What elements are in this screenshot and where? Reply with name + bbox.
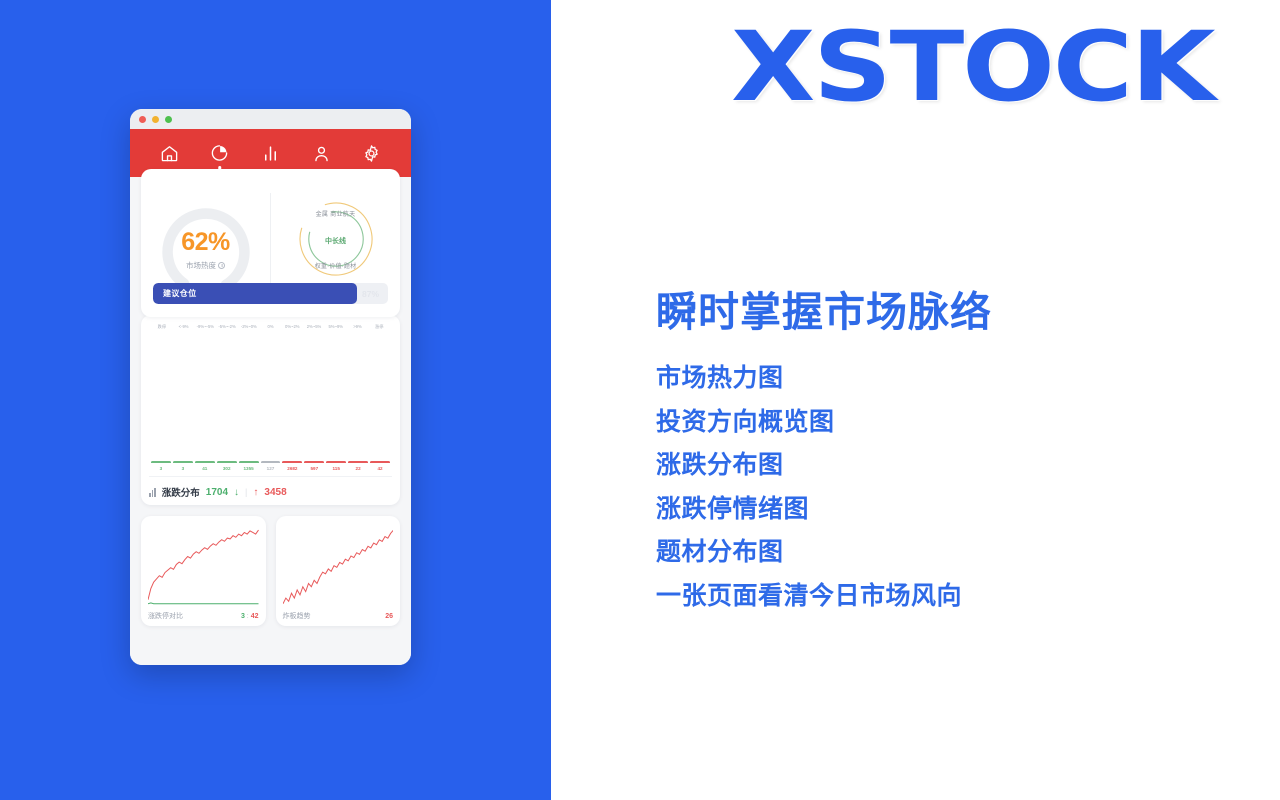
bar-column-8[interactable]: 115 (326, 461, 346, 471)
feature-item-2: 涨跌分布图 (656, 447, 962, 485)
market-heat-label-text: 市场热度 (186, 260, 216, 271)
up-arrow-icon: ↑ (253, 487, 258, 498)
bar-1 (173, 461, 193, 463)
bar-column-10[interactable]: 42 (370, 461, 390, 471)
bar-value-10: 42 (377, 466, 382, 471)
gauge-ring: 62% 市场热度 (158, 204, 254, 292)
limit-compare-name: 涨跌停对比 (148, 611, 183, 621)
bar-value-1: 3 (182, 466, 185, 471)
bar-value-7: 597 (310, 466, 318, 471)
bar-value-8: 115 (332, 466, 339, 471)
distribution-footer: 涨跌分布 1704 ↓ | ↑ 3458 (149, 476, 392, 499)
suggested-position-label: 建议仓位 (153, 288, 197, 299)
bar-chart-icon[interactable] (261, 144, 280, 163)
distribution-down-count: 1704 (206, 487, 228, 498)
window-maximize-dot[interactable] (165, 116, 172, 123)
broken-board-footer: 炸板趋势 26 (283, 608, 394, 621)
down-arrow-icon: ↓ (234, 487, 239, 498)
app-window-mockup: 62% 市场热度 (130, 109, 411, 665)
bar-column-0[interactable]: 3 (151, 461, 171, 471)
bar-column-4[interactable]: 1355 (239, 461, 259, 471)
bar-7 (304, 461, 324, 463)
suggested-position-bar[interactable]: 建议仓位 87% (153, 283, 388, 304)
bar-column-9[interactable]: 22 (348, 461, 368, 471)
distribution-up-count: 3458 (264, 487, 286, 498)
limit-compare-value: 3 : 42 (241, 613, 259, 620)
bar-5 (261, 461, 281, 463)
direction-top-text: 金属 商业航天 (296, 209, 376, 218)
bar-value-6: 2682 (287, 466, 297, 471)
app-body: 62% 市场热度 (130, 129, 411, 665)
feature-item-5: 一张页面看清今日市场风向 (656, 578, 962, 616)
feature-item-0: 市场热力图 (656, 360, 962, 398)
direction-ring-chart: 金属 商业航天 中长线 权重·价值·题材 (296, 199, 376, 279)
updown-distribution-card: 跌停<-9%-9%~-5%-5%~-2%-2%~0%0%0%~2%2%~5%5%… (141, 315, 400, 505)
bar-value-4: 1355 (243, 466, 253, 471)
bar-column-5[interactable]: 127 (261, 461, 281, 471)
brand-logo: XSTOCK (731, 12, 1213, 122)
bar-4 (239, 461, 259, 463)
distribution-title: 涨跌分布 (162, 485, 200, 499)
sparkline-series-1 (148, 603, 259, 604)
broken-board-value: 26 (385, 613, 393, 620)
mini-cards-row: 涨跌停对比 3 : 42 炸板趋势 26 (141, 516, 400, 626)
bar-value-3: 302 (223, 466, 231, 471)
limit-compare-sparkline (148, 523, 259, 608)
bar-chart-icon (149, 488, 156, 497)
right-marketing-panel: XSTOCK 瞬时掌握市场脉络 市场热力图投资方向概览图涨跌分布图涨跌停情绪图题… (551, 0, 1280, 800)
distribution-separator: | (245, 487, 247, 497)
distribution-bars: 3341302135512726825971152242 (149, 330, 392, 471)
bar-10 (370, 461, 390, 463)
feature-item-3: 涨跌停情绪图 (656, 491, 962, 529)
bar-column-1[interactable]: 3 (173, 461, 193, 471)
bar-2 (195, 461, 215, 463)
window-titlebar (130, 109, 411, 129)
limit-compare-footer: 涨跌停对比 3 : 42 (148, 608, 259, 621)
bar-column-7[interactable]: 597 (304, 461, 324, 471)
bar-6 (282, 461, 302, 463)
feature-list: 市场热力图投资方向概览图涨跌分布图涨跌停情绪图题材分布图一张页面看清今日市场风向 (656, 360, 962, 615)
market-heat-value: 62% (181, 230, 230, 255)
bar-column-2[interactable]: 41 (195, 461, 215, 471)
bar-column-6[interactable]: 2682 (282, 461, 302, 471)
home-icon[interactable] (160, 144, 179, 163)
info-icon[interactable] (218, 262, 225, 269)
broken-board-card[interactable]: 炸板趋势 26 (276, 516, 401, 626)
bar-8 (326, 461, 346, 463)
market-heat-label: 市场热度 (186, 260, 225, 271)
sparkline-series-0 (148, 530, 259, 600)
direction-bottom-text: 权重·价值·题材 (296, 261, 376, 270)
broken-board-name: 炸板趋势 (283, 611, 311, 621)
window-minimize-dot[interactable] (152, 116, 159, 123)
limit-down-count: 42 (251, 613, 259, 620)
gear-icon[interactable] (362, 144, 381, 163)
person-icon[interactable] (312, 144, 331, 163)
direction-center-text: 中长线 (296, 236, 376, 246)
suggested-position-row: 建议仓位 87% (141, 283, 400, 304)
limit-compare-card[interactable]: 涨跌停对比 3 : 42 (141, 516, 266, 626)
limit-up-count: 3 (241, 613, 245, 620)
bar-value-2: 41 (202, 466, 207, 471)
bar-value-0: 3 (160, 466, 163, 471)
window-close-dot[interactable] (139, 116, 146, 123)
bar-3 (217, 461, 237, 463)
broken-board-sparkline (283, 523, 394, 608)
ratio-separator: : (247, 613, 249, 620)
feature-item-1: 投资方向概览图 (656, 404, 962, 442)
marketing-headline: 瞬时掌握市场脉络 (656, 278, 992, 338)
sparkline-series-0 (283, 530, 394, 604)
bar-column-3[interactable]: 302 (217, 461, 237, 471)
bar-0 (151, 461, 171, 463)
bar-value-5: 127 (267, 466, 275, 471)
feature-item-4: 题材分布图 (656, 534, 962, 572)
bar-9 (348, 461, 368, 463)
pie-chart-icon[interactable] (210, 144, 229, 163)
bar-value-9: 22 (356, 466, 361, 471)
suggested-position-percent: 87% (362, 289, 379, 299)
app-content: 62% 市场热度 (130, 169, 411, 665)
